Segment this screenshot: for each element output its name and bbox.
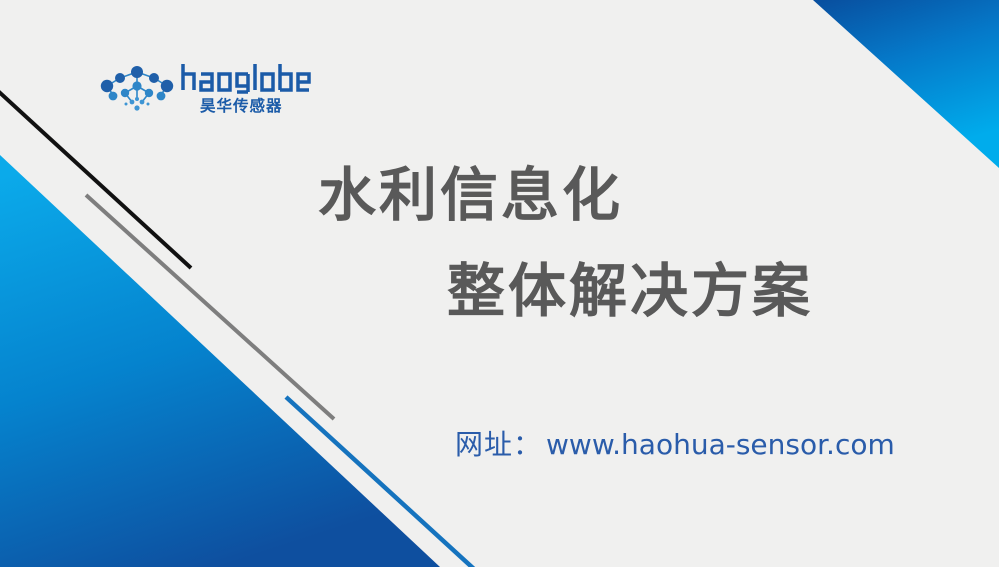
page-title-line-2: 整体解决方案 [447, 262, 813, 320]
gray-diagonal-line [86, 195, 334, 419]
page-title-line-1: 水利信息化 [318, 166, 623, 224]
top-right-blue-gradient-triangle [813, 0, 999, 168]
brand-logo: 昊华传感器 [96, 58, 311, 120]
website-label: 网址： [455, 428, 542, 461]
website-url[interactable]: www.haohua-sensor.com [546, 428, 895, 461]
haoglobe-network-dots-icon [96, 62, 178, 114]
logo-subtitle: 昊华传感器 [200, 94, 283, 116]
haoglobe-wordmark [180, 60, 312, 94]
website-line: 网址：www.haohua-sensor.com [455, 423, 895, 463]
title-slide: 昊华传感器 水利信息化 整体解决方案 网址：www.haohua-sensor.… [0, 0, 999, 567]
blue-diagonal-line [286, 397, 474, 567]
